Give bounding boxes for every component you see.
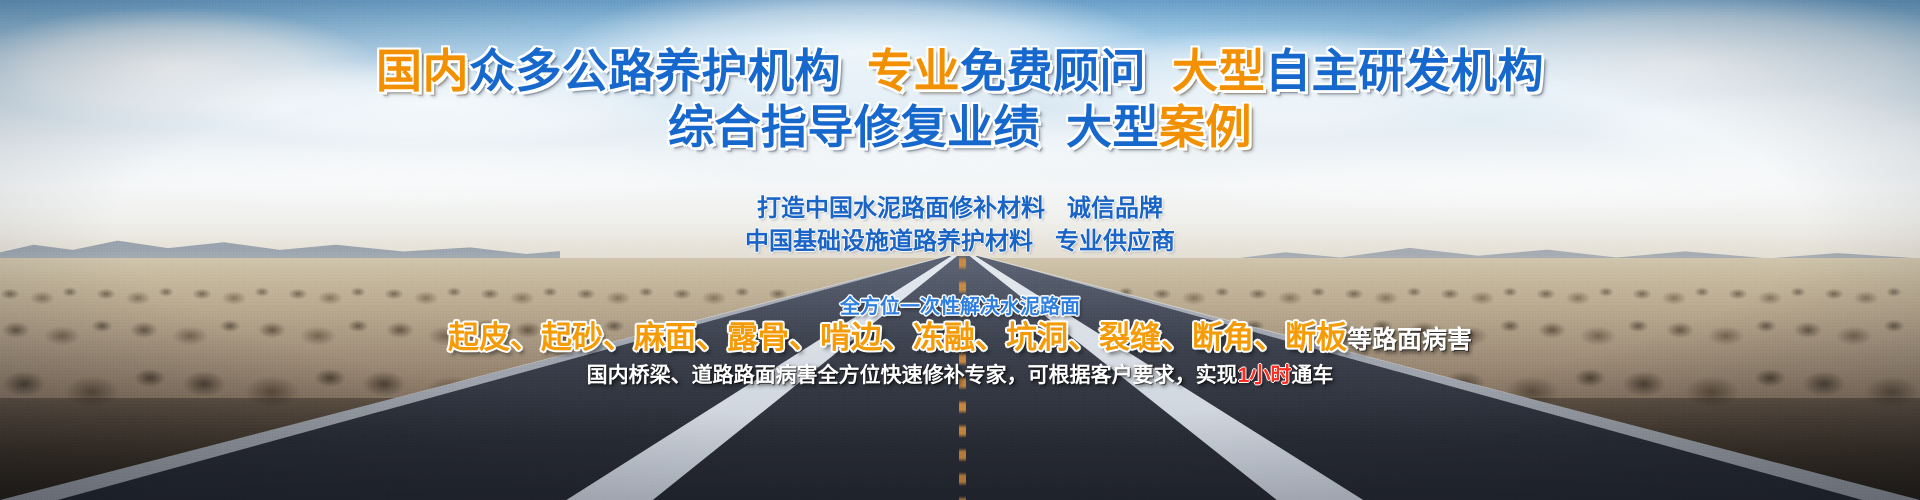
subcopy-1b: 诚信品牌 xyxy=(1067,195,1163,222)
headline-line-1: 国内众多公路养护机构专业免费顾问大型自主研发机构 xyxy=(0,44,1920,98)
subcopy-2a: 中国基础设施道路养护材料 xyxy=(745,228,1033,255)
headline2-seg-1: 综合指导修复业绩 xyxy=(668,101,1040,153)
headline-seg-4: 免费顾问 xyxy=(960,45,1146,97)
footer-highlight: 1小时 xyxy=(1238,364,1292,387)
bottom-defect-list: 起皮、起砂、麻面、露骨、啃边、冻融、坑洞、裂缝、断角、断板等路面病害 xyxy=(0,318,1920,360)
headline-seg-6: 自主研发机构 xyxy=(1265,45,1544,97)
promo-banner: 国内众多公路养护机构专业免费顾问大型自主研发机构 综合指导修复业绩大型案例 打造… xyxy=(0,0,1920,500)
defect-names: 起皮、起砂、麻面、露骨、啃边、冻融、坑洞、裂缝、断角、断板 xyxy=(448,320,1347,355)
headline-seg-2: 众多公路养护机构 xyxy=(469,45,841,97)
bottom-tagline: 全方位一次性解决水泥路面 xyxy=(0,294,1920,320)
bottom-footer: 国内桥梁、道路路面病害全方位快速修补专家，可根据客户要求，实现1小时通车 xyxy=(0,362,1920,390)
subcopy-2b: 专业供应商 xyxy=(1055,228,1175,255)
headline-seg-5: 大型 xyxy=(1172,45,1265,97)
defect-suffix: 等路面病害 xyxy=(1347,326,1472,354)
headline-seg-1: 国内 xyxy=(376,45,469,97)
footer-text-a: 国内桥梁、道路路面病害全方位快速修补专家，可根据客户要求，实现 xyxy=(587,364,1238,387)
headline-line-2: 综合指导修复业绩大型案例 xyxy=(0,100,1920,154)
headline2-seg-2: 大型 xyxy=(1066,101,1159,153)
subcopy-line-2: 中国基础设施道路养护材料专业供应商 xyxy=(0,225,1920,258)
footer-text-b: 通车 xyxy=(1291,364,1333,387)
headline-seg-3: 专业 xyxy=(867,45,960,97)
subcopy-1a: 打造中国水泥路面修补材料 xyxy=(757,195,1045,222)
headline2-seg-3: 案例 xyxy=(1159,101,1252,153)
subcopy-line-1: 打造中国水泥路面修补材料诚信品牌 xyxy=(0,192,1920,225)
